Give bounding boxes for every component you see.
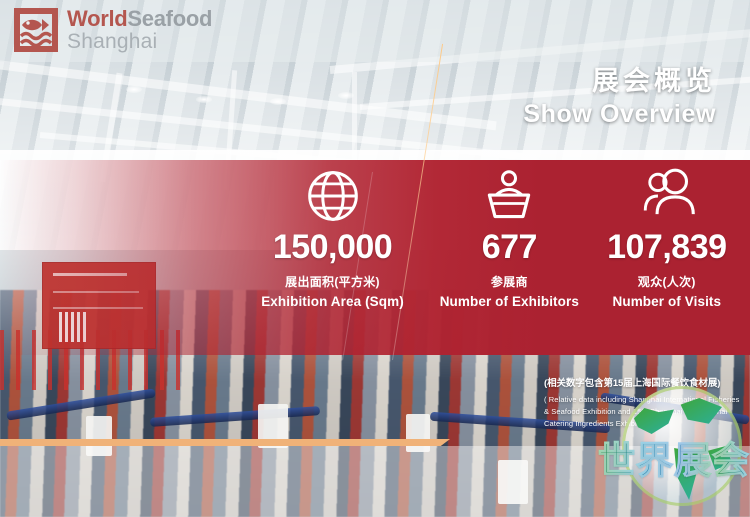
watermark-text: 世界展会	[596, 430, 750, 484]
show-overview-banner: WorldSeafood Shanghai 展会概览 Show Overview	[0, 0, 750, 517]
stat-label-en: Number of Visits	[613, 294, 722, 309]
watermark: 世界展会	[598, 378, 750, 517]
globe-icon	[305, 168, 361, 224]
brand-word-world: World	[67, 6, 127, 31]
brand-wordmark: WorldSeafood Shanghai	[67, 8, 212, 52]
fish-in-square-logo	[14, 8, 58, 52]
brand-logo[interactable]: WorldSeafood Shanghai	[14, 8, 212, 52]
brand-word-shanghai: Shanghai	[67, 31, 212, 52]
stat-label-en: Number of Exhibitors	[440, 294, 579, 309]
page-title: 展会概览 Show Overview	[523, 66, 716, 129]
brand-word-seafood: Seafood	[127, 6, 212, 31]
ceiling-lamp	[270, 98, 286, 105]
ceiling-lamp	[196, 96, 212, 103]
podium-speaker-icon	[481, 168, 537, 224]
two-people-icon	[638, 168, 696, 224]
ceiling-lamp	[338, 92, 354, 99]
stat-label-cn: 参展商	[491, 273, 528, 290]
stats-row: 150,000 展出面积(平方米) Exhibition Area (Sqm) …	[230, 168, 750, 343]
page-title-en: Show Overview	[523, 99, 716, 129]
stat-value: 150,000	[273, 230, 392, 264]
stat-label-en: Exhibition Area (Sqm)	[261, 294, 404, 309]
page-title-cn: 展会概览	[523, 66, 716, 97]
stat-value: 677	[482, 230, 537, 264]
stat-visits: 107,839 观众(人次) Number of Visits	[584, 168, 750, 343]
stat-value: 107,839	[607, 230, 726, 264]
stat-label-cn: 观众(人次)	[638, 273, 696, 290]
stat-label-cn: 展出面积(平方米)	[285, 273, 380, 290]
stat-exhibitors: 677 参展商 Number of Exhibitors	[435, 168, 584, 343]
stat-exhibition-area: 150,000 展出面积(平方米) Exhibition Area (Sqm)	[230, 168, 435, 343]
ceiling-lamp	[126, 86, 142, 93]
accent-rule	[0, 439, 430, 446]
